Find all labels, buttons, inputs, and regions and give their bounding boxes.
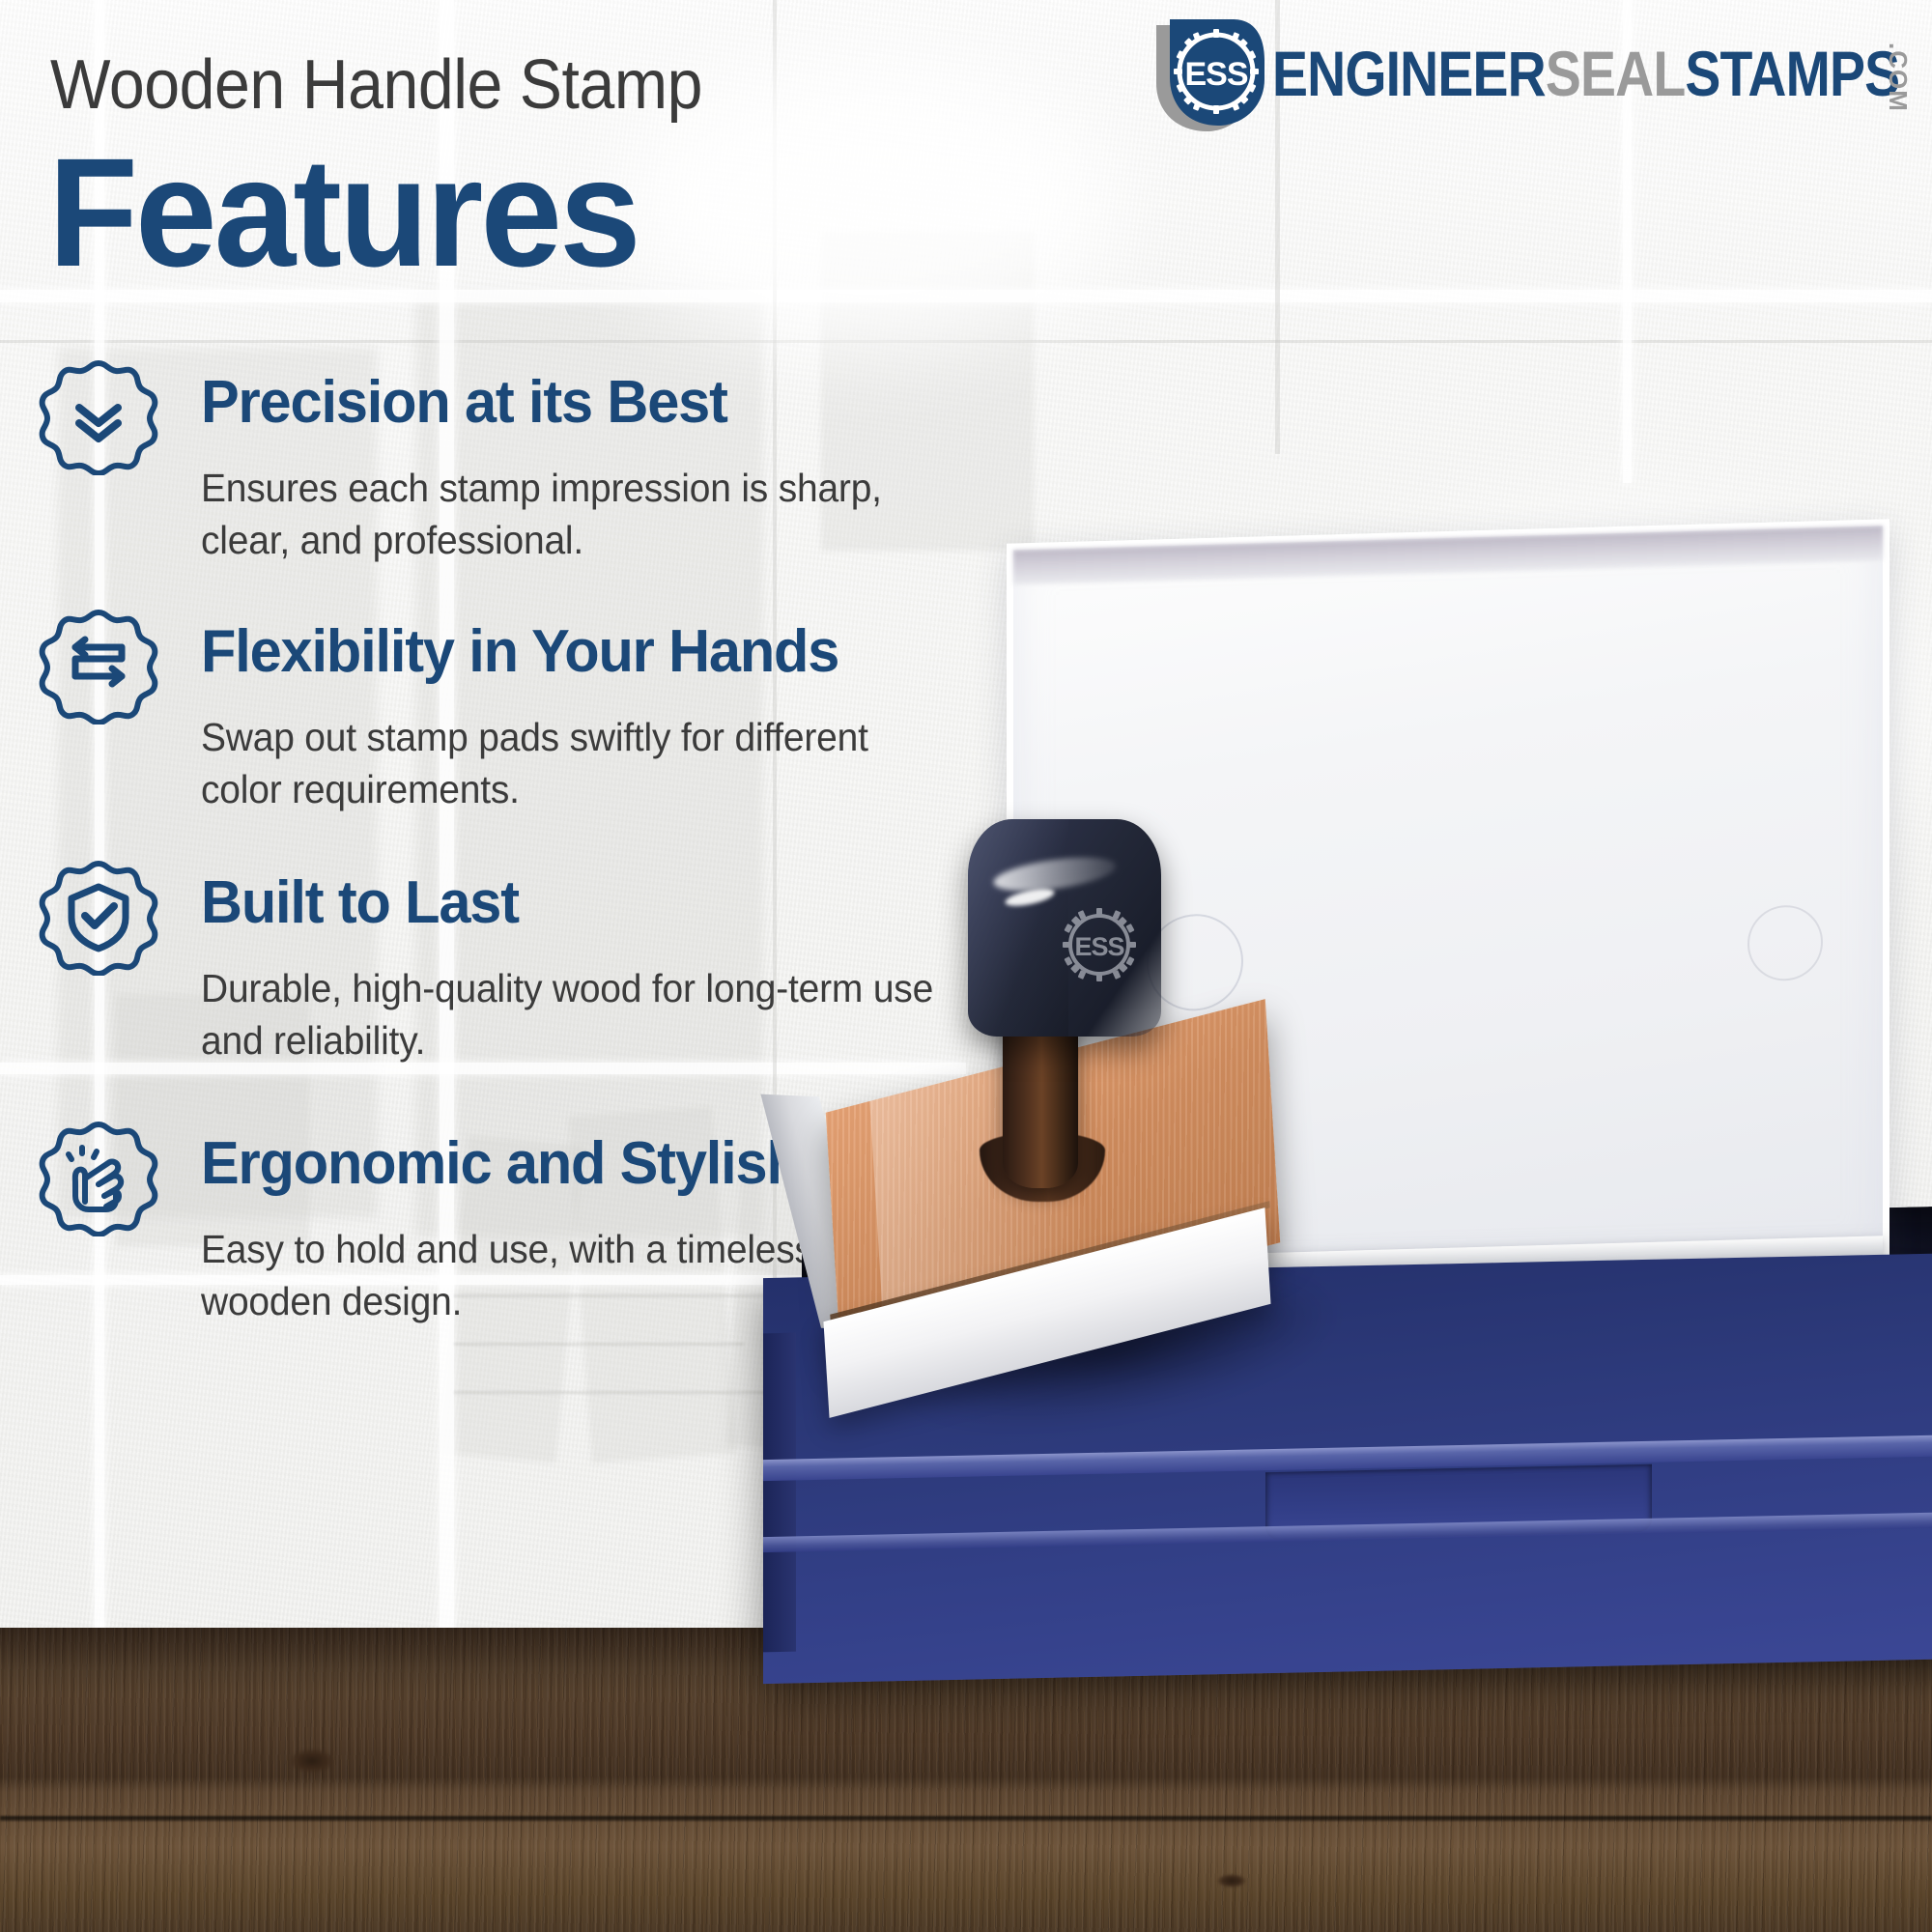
lid-inner-shadow [1013, 526, 1883, 584]
double-chevron-down-badge-icon [39, 355, 158, 475]
feature-body: Swap out stamp pads swiftly for differen… [201, 711, 935, 815]
shield-check-badge-icon [39, 856, 158, 976]
pointing-hand-badge-icon [39, 1117, 158, 1236]
knob-ess-gear-icon: ESS [1053, 898, 1146, 991]
feature-heading: Precision at its Best [201, 373, 727, 433]
background-detail-line [454, 1391, 782, 1394]
background-detail-line [454, 1343, 744, 1346]
wood-plank-seam [0, 1816, 1932, 1821]
brand-word-seal: SEAL [1546, 38, 1686, 109]
wood-knot [290, 1748, 334, 1774]
window-mullion-horizontal [0, 340, 1932, 343]
feature-body: Durable, high-quality wood for long-term… [201, 962, 935, 1066]
brand-tld: .COM [1883, 43, 1913, 112]
page-title: Features [48, 135, 639, 290]
wood-knot [1217, 1874, 1246, 1888]
brand-word-engineer: ENGINEER [1272, 38, 1546, 109]
feature-heading: Flexibility in Your Hands [201, 622, 838, 682]
product-photo: ESS [947, 415, 1932, 1662]
knob-logo-text: ESS [1074, 932, 1123, 961]
brand-wordmark: ENGINEERSEALSTAMPS [1272, 37, 1899, 110]
svg-text:ESS: ESS [1184, 56, 1247, 93]
lid-emboss-circle [1747, 904, 1823, 981]
feature-heading: Ergonomic and Stylish [201, 1134, 801, 1194]
page-subtitle: Wooden Handle Stamp [50, 50, 702, 120]
feature-heading: Built to Last [201, 873, 519, 933]
swap-arrows-badge-icon [39, 605, 158, 724]
lid-emboss-circle [1147, 913, 1243, 1012]
infographic-canvas: Wooden Handle Stamp Features [0, 0, 1932, 1932]
brand-logo[interactable]: ESS ENGINEERSEALSTAMPS .COM [1145, 15, 1918, 131]
feature-body: Ensures each stamp impression is sharp, … [201, 462, 935, 566]
brand-word-stamps: STAMPS [1685, 38, 1899, 109]
case-left-edge [763, 1333, 796, 1653]
ess-shield-icon: ESS [1145, 15, 1268, 133]
